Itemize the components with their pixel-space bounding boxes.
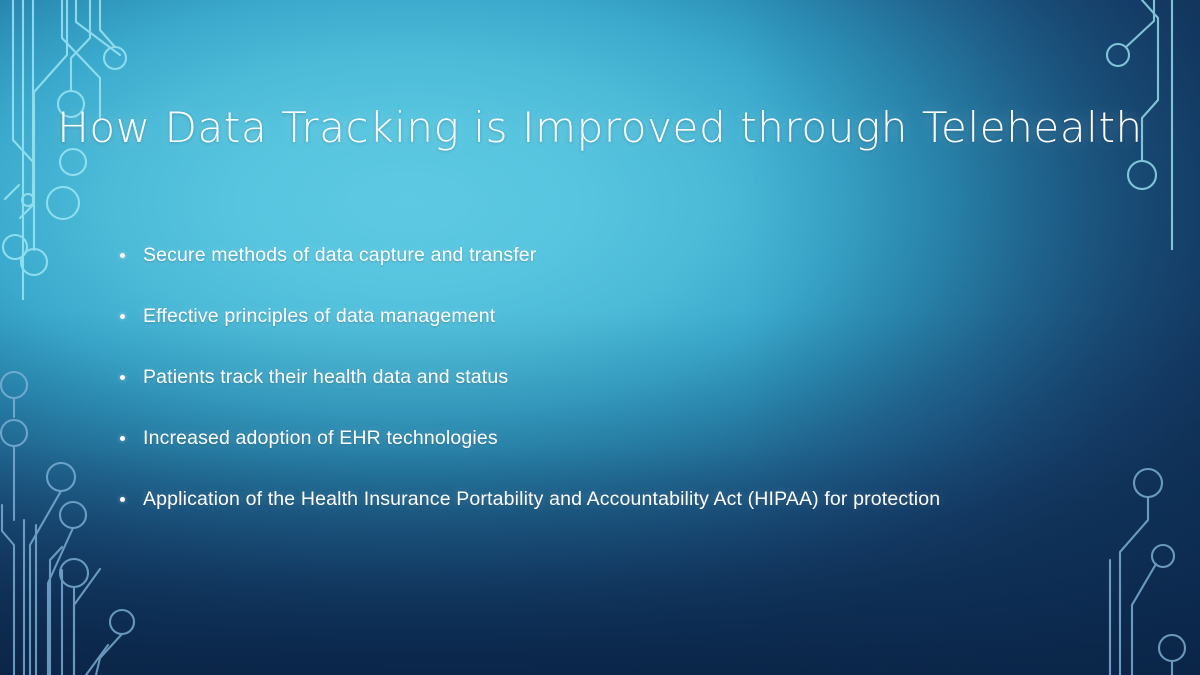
- bullet-marker-icon: [120, 497, 125, 502]
- bullet-marker-icon: [120, 253, 125, 258]
- bullet-item: Secure methods of data capture and trans…: [116, 238, 1126, 299]
- bullet-text: Secure methods of data capture and trans…: [143, 244, 536, 266]
- bullet-marker-icon: [120, 314, 125, 319]
- bullet-text: Effective principles of data management: [143, 305, 495, 327]
- slide-bullet-list: Secure methods of data capture and trans…: [116, 238, 1126, 543]
- presentation-slide: How Data Tracking is Improved through Te…: [0, 0, 1200, 675]
- bullet-item: Increased adoption of EHR technologies: [116, 421, 1126, 482]
- bullet-text: Increased adoption of EHR technologies: [143, 427, 498, 449]
- bullet-marker-icon: [120, 436, 125, 441]
- bullet-marker-icon: [120, 375, 125, 380]
- bullet-item: Application of the Health Insurance Port…: [116, 482, 1126, 543]
- slide-title: How Data Tracking is Improved through Te…: [0, 104, 1200, 151]
- bullet-item: Effective principles of data management: [116, 299, 1126, 360]
- bullet-item: Patients track their health data and sta…: [116, 360, 1126, 421]
- bullet-text: Patients track their health data and sta…: [143, 366, 508, 388]
- bullet-text: Application of the Health Insurance Port…: [143, 488, 940, 510]
